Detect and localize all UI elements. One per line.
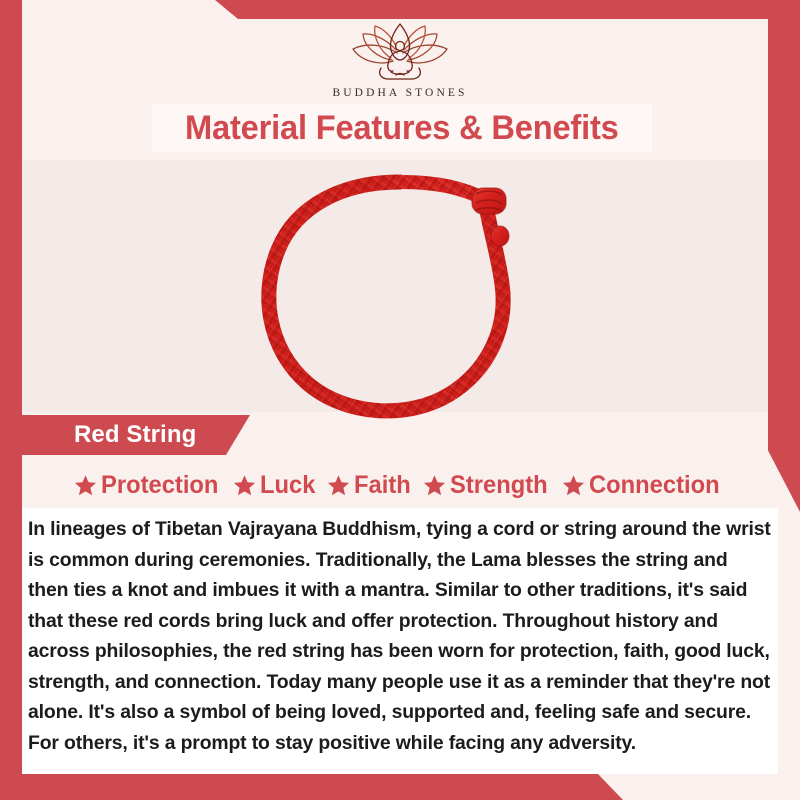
benefit-label: Protection: [101, 471, 218, 500]
bottom-red-band: [0, 774, 800, 800]
benefit-item-strength: Strength: [423, 471, 553, 500]
page-title: Material Features & Benefits: [185, 109, 619, 148]
star-icon: [562, 474, 585, 497]
description-text: In lineages of Tibetan Vajrayana Buddhis…: [28, 514, 772, 758]
star-icon: [327, 474, 350, 497]
product-name-label: Red String: [74, 421, 196, 449]
benefit-label: Connection: [589, 471, 720, 500]
brand-wordmark: BUDDHA STONES: [333, 87, 468, 99]
benefit-item-protection: Protection: [74, 471, 225, 500]
benefit-label: Luck: [260, 471, 315, 500]
infographic-root: BUDDHA STONES Material Features & Benefi…: [0, 0, 800, 800]
star-icon: [423, 474, 446, 497]
benefit-item-connection: Connection: [562, 471, 727, 500]
description-panel: In lineages of Tibetan Vajrayana Buddhis…: [22, 508, 778, 774]
star-icon: [74, 474, 97, 497]
title-banner: Material Features & Benefits: [152, 104, 652, 152]
star-icon: [233, 474, 256, 497]
benefits-row: Protection Luck Faith Strength Connectio: [22, 464, 778, 506]
brand-logo: BUDDHA STONES: [0, 20, 800, 99]
benefit-item-luck: Luck: [233, 471, 318, 500]
left-red-border: [0, 0, 22, 800]
benefit-label: Faith: [354, 471, 411, 500]
lotus-meditation-logo-icon: [341, 20, 459, 82]
product-image-red-string-bracelet: [250, 166, 550, 428]
benefit-item-faith: Faith: [327, 471, 414, 500]
right-red-border: [768, 0, 800, 512]
product-name-tag: Red String: [22, 415, 250, 455]
benefit-label: Strength: [450, 471, 548, 500]
